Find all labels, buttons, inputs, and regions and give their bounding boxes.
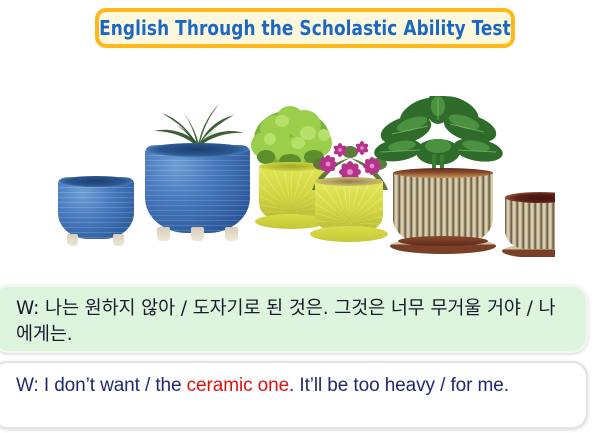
yellow-pot-with-flowers [310,179,388,253]
fluted-small-pot [502,192,555,257]
english-caption-after: . It’ll be too heavy / for me. [289,375,509,396]
english-caption-before: W: I don’t want / the [16,375,187,396]
glossy-leaf-plant-illustration [368,96,508,174]
fluted-large-pot [390,168,496,256]
korean-caption-text: W: 나는 원하지 않아 / 도자기로 된 것은. 그것은 너무 무거울 거야 … [16,296,568,349]
english-caption-highlight: ceramic one [187,375,289,396]
blue-large-pot [145,145,250,245]
fern-plant-illustration [148,87,248,149]
korean-caption-box: W: 나는 원하지 않아 / 도자기로 된 것은. 그것은 너무 무거울 거야 … [0,285,588,353]
title-banner: English Through the Scholastic Ability T… [95,8,515,48]
page-title: English Through the Scholastic Ability T… [99,16,511,40]
english-caption-text: W: I don’t want / the ceramic one. It’ll… [16,373,568,400]
english-caption-box: W: I don’t want / the ceramic one. It’ll… [0,361,588,429]
blue-small-pot [58,177,134,247]
plant-pots-photo [50,82,555,257]
